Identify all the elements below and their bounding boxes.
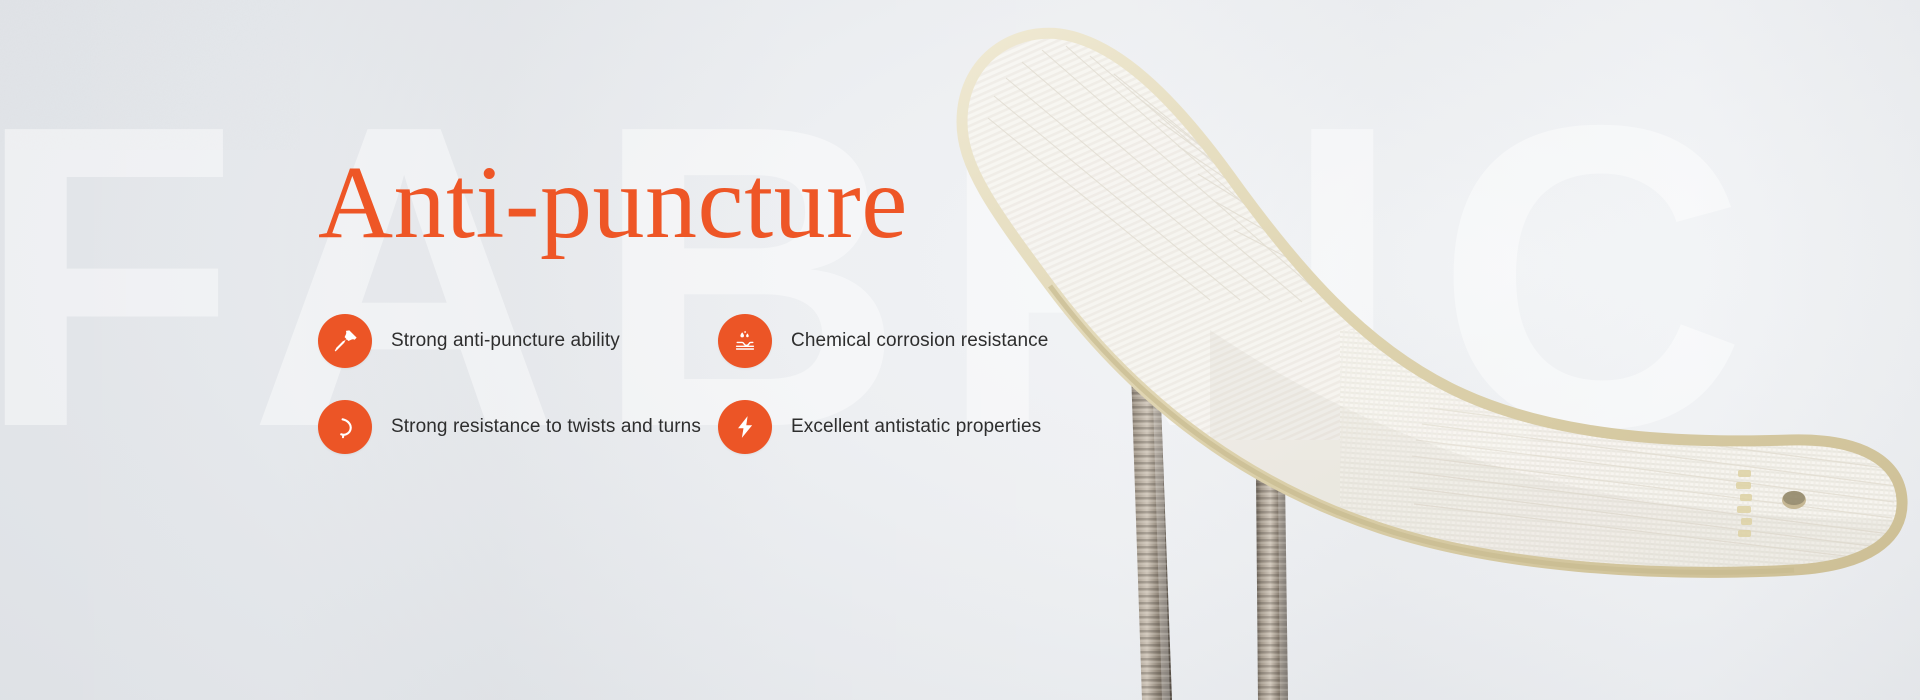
feature-label: Chemical corrosion resistance [791,330,1048,352]
feature-item-antistatic: Excellent antistatic properties [718,400,1118,454]
feature-label: Strong anti-puncture ability [391,330,620,352]
heel-marking [1736,470,1806,537]
hero-banner: FABRIC [0,0,1920,700]
hero-content: Anti-puncture Strong anti-puncture abili… [318,150,1078,470]
feature-item-anti-puncture: Strong anti-puncture ability [318,314,718,368]
page-title: Anti-puncture [318,150,1078,256]
test-nails [1124,158,1288,700]
feature-list: Strong anti-puncture ability Chemical co… [318,298,1078,470]
pushpin-icon [318,314,372,368]
feature-label: Excellent antistatic properties [791,416,1041,438]
rotation-icon [318,400,372,454]
grain-overlay [0,0,300,150]
corrosion-icon [718,314,772,368]
feature-label: Strong resistance to twists and turns [391,416,701,438]
feature-item-corrosion-resistance: Chemical corrosion resistance [718,314,1118,368]
feature-item-twist-resistance: Strong resistance to twists and turns [318,400,718,454]
lightning-icon [718,400,772,454]
